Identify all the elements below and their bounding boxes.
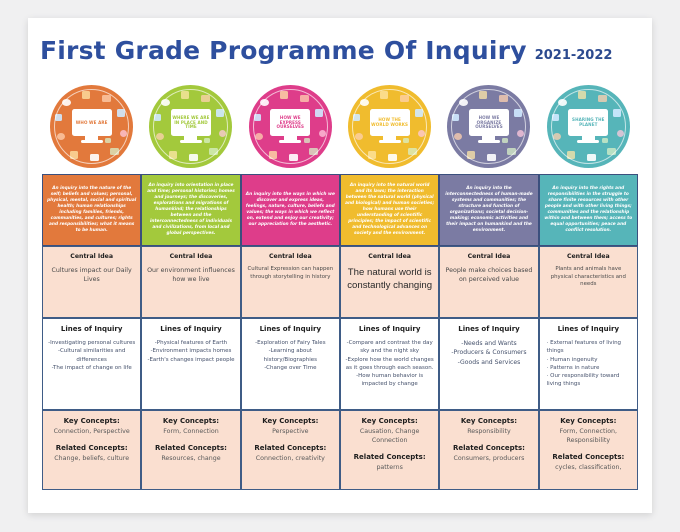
line-of-inquiry-item: -Needs and Wants [461, 339, 516, 348]
central-idea-header: Central Idea [567, 253, 610, 260]
line-of-inquiry-item: -Goods and Services [458, 358, 521, 367]
theme-column: WHO WE AREAn inquiry into the nature of … [42, 78, 141, 490]
concepts-cell: Key Concepts:Causation, Change Connectio… [340, 410, 439, 490]
theme-badge-label: WHERE WE ARE IN PLACE AND TIME [172, 116, 210, 130]
where-we-are-in-place-and-time-badge-icon: WHERE WE ARE IN PLACE AND TIME [149, 85, 232, 168]
line-of-inquiry-item: -Compare and contrast the day sky and th… [345, 339, 434, 356]
central-idea-text: Our environment influences how we live [146, 266, 235, 284]
lines-of-inquiry-header: Lines of Inquiry [359, 325, 420, 333]
theme-descriptor-cell: An inquiry into the nature of the self; … [42, 174, 141, 246]
related-concepts-header: Related Concepts: [254, 444, 326, 452]
theme-column: SHARING THE PLANETAn inquiry into the ri… [539, 78, 638, 490]
related-concepts-value: Change, beliefs, culture [54, 455, 129, 464]
line-of-inquiry-item: · External features of living things [544, 339, 633, 356]
related-concepts-header: Related Concepts: [56, 444, 128, 452]
lines-of-inquiry-header: Lines of Inquiry [558, 325, 619, 333]
related-concepts-value: Connection, creativity [256, 455, 325, 464]
line-of-inquiry-item: -Cultural similarities and differences [47, 347, 136, 364]
key-concepts-header: Key Concepts: [362, 417, 418, 425]
concepts-cell: Key Concepts:Form, ConnectionRelated Con… [141, 410, 240, 490]
title-row: First Grade Programme Of Inquiry 2021-20… [40, 36, 612, 65]
theme-descriptor-text: An inquiry into the interconnectedness o… [444, 186, 533, 235]
central-idea-header: Central Idea [368, 253, 411, 260]
document-page: First Grade Programme Of Inquiry 2021-20… [28, 18, 652, 513]
badge-monitor-icon: WHERE WE ARE IN PLACE AND TIME [171, 109, 211, 142]
inquiry-grid: WHO WE AREAn inquiry into the nature of … [42, 78, 638, 490]
central-idea-cell: Central IdeaPlants and animals have phys… [539, 246, 638, 318]
line-of-inquiry-item: -The impact of change on life [52, 364, 132, 372]
lines-of-inquiry-cell: Lines of Inquiry-Compare and contrast th… [340, 318, 439, 410]
central-idea-text: Cultural Expression can happen through s… [246, 266, 335, 281]
lines-of-inquiry-cell: Lines of Inquiry-Exploration of Fairy Ta… [241, 318, 340, 410]
line-of-inquiry-item: -Producers & Consumers [451, 348, 526, 357]
theme-badge-label: WHO WE ARE [76, 121, 108, 126]
key-concepts-value: Perspective [272, 428, 308, 437]
line-of-inquiry-item: · Our responsibility toward living thing… [544, 372, 633, 389]
central-idea-text: People make choices based on perceived v… [444, 266, 533, 284]
related-concepts-value: Resources, change [161, 455, 220, 464]
theme-badge-cell: HOW WE EXPRESS OURSELVES [241, 78, 340, 174]
theme-badge-label: SHARING THE PLANET [569, 118, 607, 128]
line-of-inquiry-item: -Investigating personal cultures [48, 339, 135, 347]
central-idea-cell: Central IdeaCultural Expression can happ… [241, 246, 340, 318]
theme-descriptor-text: An inquiry into the rights and responsib… [544, 186, 633, 235]
badge-monitor-icon: HOW WE ORGANIZE OURSELVES [469, 109, 509, 142]
central-idea-text: Cultures impact our Daily Lives [47, 266, 136, 284]
line-of-inquiry-item: -Change over Time [264, 364, 316, 372]
central-idea-text: The natural world is constantly changing [345, 266, 434, 293]
key-concepts-value: Connection, Perspective [54, 428, 130, 437]
theme-badge-cell: HOW WE ORGANIZE OURSELVES [439, 78, 538, 174]
theme-descriptor-cell: An inquiry into the natural world and it… [340, 174, 439, 246]
theme-descriptor-cell: An inquiry into the ways in which we dis… [241, 174, 340, 246]
sharing-the-planet-badge-icon: SHARING THE PLANET [547, 85, 630, 168]
lines-of-inquiry-header: Lines of Inquiry [458, 325, 519, 333]
concepts-cell: Key Concepts:Form, Connection, Responsib… [539, 410, 638, 490]
theme-descriptor-cell: An inquiry into the rights and responsib… [539, 174, 638, 246]
key-concepts-header: Key Concepts: [262, 417, 318, 425]
key-concepts-header: Key Concepts: [163, 417, 219, 425]
theme-column: WHERE WE ARE IN PLACE AND TIMEAn inquiry… [141, 78, 240, 490]
page-title: First Grade Programme Of Inquiry [40, 36, 527, 65]
concepts-cell: Key Concepts:PerspectiveRelated Concepts… [241, 410, 340, 490]
theme-badge-cell: WHO WE ARE [42, 78, 141, 174]
central-idea-header: Central Idea [468, 253, 511, 260]
badge-monitor-icon: SHARING THE PLANET [568, 109, 608, 142]
central-idea-header: Central Idea [70, 253, 113, 260]
key-concepts-header: Key Concepts: [64, 417, 120, 425]
how-we-express-ourselves-badge-icon: HOW WE EXPRESS OURSELVES [249, 85, 332, 168]
badge-monitor-icon: HOW WE EXPRESS OURSELVES [270, 109, 310, 142]
lines-of-inquiry-cell: Lines of Inquiry-Needs and Wants-Produce… [439, 318, 538, 410]
lines-of-inquiry-header: Lines of Inquiry [260, 325, 321, 333]
related-concepts-value: cycles, classification, [555, 464, 621, 473]
lines-of-inquiry-cell: Lines of Inquiry· External features of l… [539, 318, 638, 410]
central-idea-cell: Central IdeaCultures impact our Daily Li… [42, 246, 141, 318]
theme-column: HOW WE ORGANIZE OURSELVESAn inquiry into… [439, 78, 538, 490]
theme-badge-label: HOW WE ORGANIZE OURSELVES [470, 116, 508, 130]
related-concepts-header: Related Concepts: [354, 453, 426, 461]
key-concepts-value: Responsibility [467, 428, 511, 437]
lines-of-inquiry-header: Lines of Inquiry [160, 325, 221, 333]
central-idea-cell: Central IdeaOur environment influences h… [141, 246, 240, 318]
theme-descriptor-text: An inquiry into orientation in place and… [146, 183, 235, 238]
theme-descriptor-text: An inquiry into the ways in which we dis… [246, 192, 335, 229]
central-idea-text: Plants and animals have physical charact… [544, 266, 633, 289]
key-concepts-header: Key Concepts: [560, 417, 616, 425]
concepts-cell: Key Concepts:ResponsibilityRelated Conce… [439, 410, 538, 490]
academic-year: 2021-2022 [535, 48, 613, 63]
key-concepts-header: Key Concepts: [461, 417, 517, 425]
who-we-are-badge-icon: WHO WE ARE [50, 85, 133, 168]
line-of-inquiry-item: · Patterns in nature [544, 364, 633, 372]
concepts-cell: Key Concepts:Connection, PerspectiveRela… [42, 410, 141, 490]
related-concepts-value: patterns [376, 464, 402, 473]
line-of-inquiry-item: -Physical features of Earth [155, 339, 227, 347]
theme-badge-cell: WHERE WE ARE IN PLACE AND TIME [141, 78, 240, 174]
theme-column: HOW WE EXPRESS OURSELVESAn inquiry into … [241, 78, 340, 490]
line-of-inquiry-item: -How human behavior is impacted by chang… [345, 372, 434, 389]
lines-of-inquiry-cell: Lines of Inquiry-Physical features of Ea… [141, 318, 240, 410]
key-concepts-value: Form, Connection, Responsibility [544, 428, 633, 446]
line-of-inquiry-item: -Earth's changes impact people [147, 356, 234, 364]
line-of-inquiry-item: -Environment impacts homes [151, 347, 232, 355]
theme-badge-label: HOW WE EXPRESS OURSELVES [271, 116, 309, 130]
theme-badge-cell: SHARING THE PLANET [539, 78, 638, 174]
theme-descriptor-cell: An inquiry into orientation in place and… [141, 174, 240, 246]
key-concepts-value: Causation, Change Connection [345, 428, 434, 446]
key-concepts-value: Form, Connection [163, 428, 219, 437]
lines-of-inquiry-cell: Lines of Inquiry-Investigating personal … [42, 318, 141, 410]
related-concepts-value: Consumers, producers [454, 455, 525, 464]
badge-monitor-icon: WHO WE ARE [72, 109, 112, 142]
line-of-inquiry-item: -Exploration of Fairy Tales [255, 339, 325, 347]
central-idea-header: Central Idea [269, 253, 312, 260]
how-we-organize-ourselves-badge-icon: HOW WE ORGANIZE OURSELVES [447, 85, 530, 168]
badge-monitor-icon: HOW THE WORLD WORKS [370, 109, 410, 142]
related-concepts-header: Related Concepts: [453, 444, 525, 452]
theme-descriptor-text: An inquiry into the nature of the self; … [47, 186, 136, 235]
line-of-inquiry-item: -Learning about history/Biographies [246, 347, 335, 364]
theme-descriptor-text: An inquiry into the natural world and it… [345, 183, 434, 238]
central-idea-cell: Central IdeaThe natural world is constan… [340, 246, 439, 318]
theme-column: HOW THE WORLD WORKSAn inquiry into the n… [340, 78, 439, 490]
theme-descriptor-cell: An inquiry into the interconnectedness o… [439, 174, 538, 246]
related-concepts-header: Related Concepts: [552, 453, 624, 461]
central-idea-cell: Central IdeaPeople make choices based on… [439, 246, 538, 318]
line-of-inquiry-item: -Explore how the world changes as it goe… [345, 356, 434, 373]
lines-of-inquiry-header: Lines of Inquiry [61, 325, 122, 333]
related-concepts-header: Related Concepts: [155, 444, 227, 452]
line-of-inquiry-item: · Human ingenuity [544, 356, 633, 364]
theme-badge-cell: HOW THE WORLD WORKS [340, 78, 439, 174]
theme-badge-label: HOW THE WORLD WORKS [371, 118, 409, 128]
how-the-world-works-badge-icon: HOW THE WORLD WORKS [348, 85, 431, 168]
central-idea-header: Central Idea [170, 253, 213, 260]
